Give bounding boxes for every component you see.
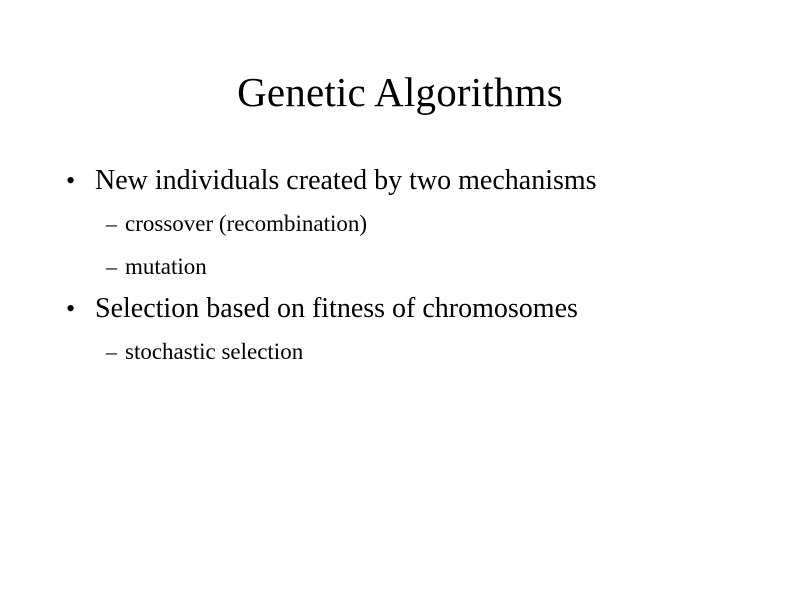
list-item-label: mutation	[125, 245, 207, 288]
slide-body: • New individuals created by two mechani…	[0, 160, 800, 373]
list-item-label: Selection based on fitness of chromosome…	[95, 288, 578, 330]
list-item: – stochastic selection	[0, 330, 800, 373]
list-item: – mutation	[0, 245, 800, 288]
list-item-label: New individuals created by two mechanism…	[95, 160, 597, 202]
list-item: • New individuals created by two mechani…	[0, 160, 800, 202]
bullet-dash-icon: –	[106, 330, 125, 373]
list-item-label: crossover (recombination)	[125, 202, 367, 245]
bullet-dash-icon: –	[106, 202, 125, 245]
list-item: • Selection based on fitness of chromoso…	[0, 288, 800, 330]
list-item-label: stochastic selection	[125, 330, 303, 373]
page-title: Genetic Algorithms	[0, 68, 800, 116]
list-item: – crossover (recombination)	[0, 202, 800, 245]
bullet-dot-icon: •	[66, 160, 95, 202]
slide: Genetic Algorithms • New individuals cre…	[0, 0, 800, 600]
bullet-dot-icon: •	[66, 288, 95, 330]
bullet-dash-icon: –	[106, 245, 125, 288]
